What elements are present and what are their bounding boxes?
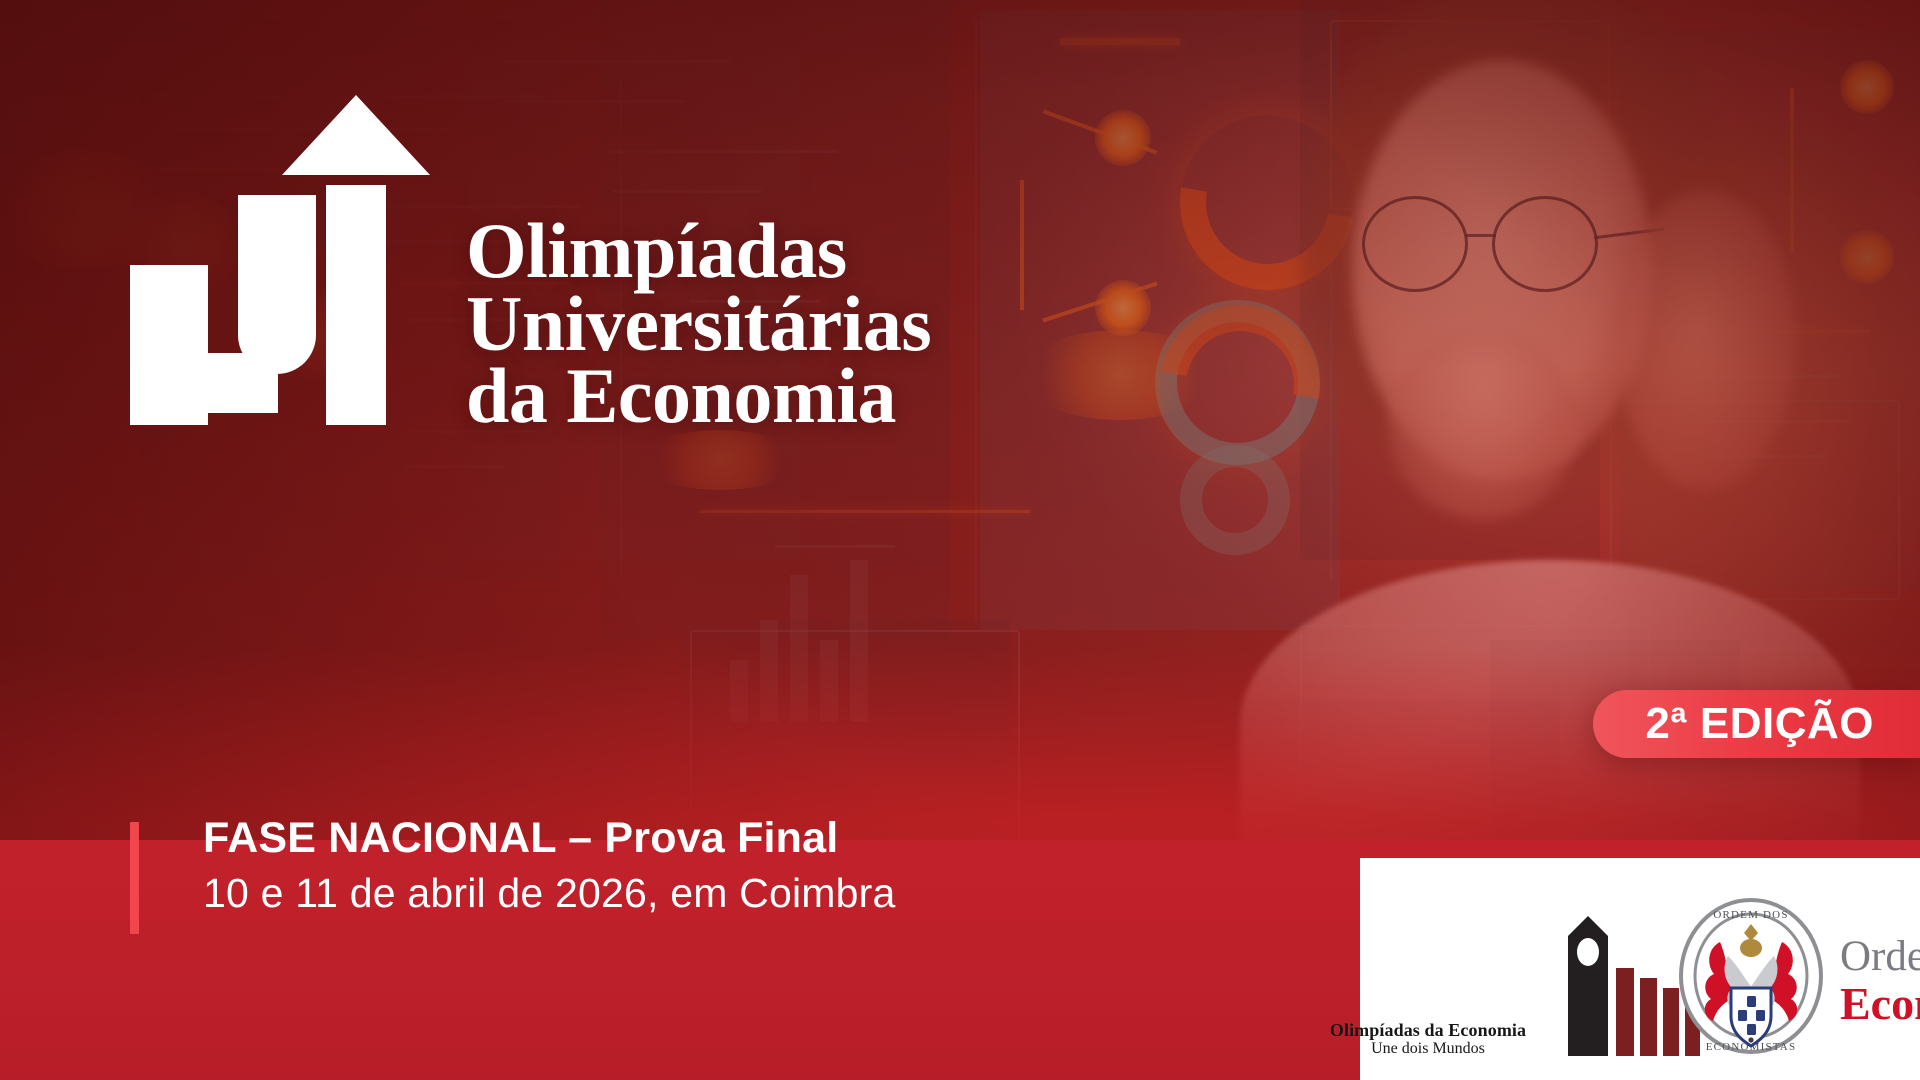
edition-badge-label: 2ª EDIÇÃO — [1645, 699, 1874, 749]
partner-olimpiadas-name: Olimpíadas da Economia — [1328, 1020, 1528, 1041]
footer-headline: FASE NACIONAL – Prova Final — [203, 812, 895, 864]
footer-accent-bar — [130, 822, 139, 934]
title-line-1: Olimpíadas — [466, 215, 1106, 288]
olimpiadas-logo-mark — [130, 95, 430, 425]
partner-olimpiadas-caption: Olimpíadas da Economia Une dois Mundos — [1328, 1020, 1528, 1058]
edition-badge: 2ª EDIÇÃO — [1593, 690, 1920, 758]
title-line-3: da Economia — [466, 360, 1106, 433]
footer-text-block: FASE NACIONAL – Prova Final 10 e 11 de a… — [203, 812, 895, 921]
title-line-2: Universitárias — [466, 288, 1106, 361]
heraldic-crest-icon: ORDEM DOS ECONOMISTAS — [1676, 896, 1826, 1056]
ordem-line-1: Ordem dos — [1840, 935, 1920, 978]
event-title: Olimpíadas Universitárias da Economia — [466, 215, 1106, 433]
svg-text:ORDEM DOS: ORDEM DOS — [1713, 909, 1788, 921]
partner-ordem-wordmark: Ordem dos Economistas — [1840, 935, 1920, 1028]
ordem-line-2: Economistas — [1840, 980, 1920, 1028]
bar-chart-arrow-up-u-icon — [130, 95, 430, 425]
promo-banner: Olimpíadas Universitárias da Economia 2ª… — [0, 0, 1920, 1080]
footer-subline: 10 e 11 de abril de 2026, em Coimbra — [203, 867, 895, 920]
partner-olimpiadas-tagline: Une dois Mundos — [1328, 1040, 1528, 1058]
partner-logos-card: Olimpíadas da Economia Une dois Mundos O… — [1200, 858, 1920, 1080]
